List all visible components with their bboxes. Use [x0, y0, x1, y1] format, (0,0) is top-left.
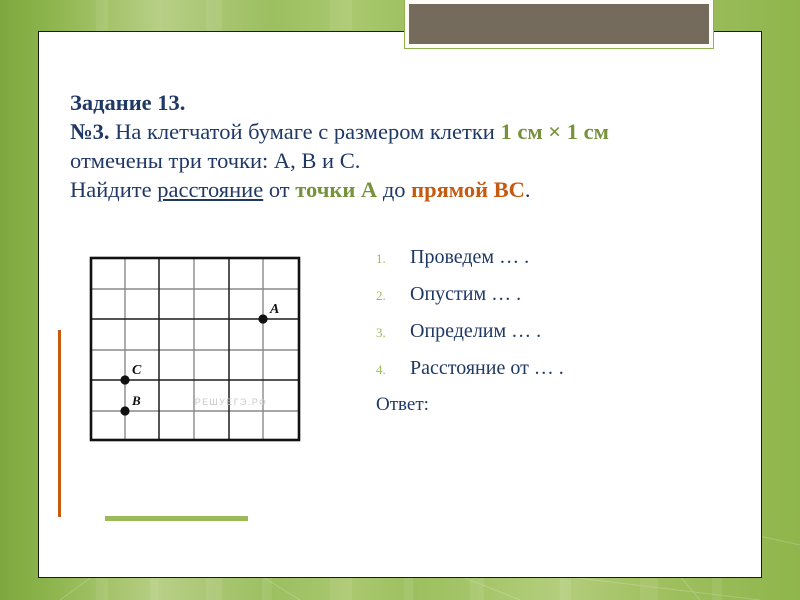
- list-item-number: 1.: [376, 251, 410, 267]
- point-c-marker: [120, 375, 129, 384]
- list-item-label: Опустим … .: [410, 282, 696, 306]
- line-bc-highlight: прямой ВС: [411, 177, 525, 202]
- list-item[interactable]: 4. Расстояние от … .: [376, 356, 696, 380]
- grid-figure: РЕШУЕГЭ.РФ A C B: [88, 255, 302, 443]
- statement-line-2: №3. На клетчатой бумаге с размером клетк…: [70, 117, 730, 146]
- list-item[interactable]: 1. Проведем … .: [376, 245, 696, 269]
- problem-number: №3.: [70, 119, 110, 144]
- point-a-highlight: точки А: [295, 177, 377, 202]
- list-item[interactable]: 3. Определим … .: [376, 319, 696, 343]
- statement-line-2-body: На клетчатой бумаге с размером клетки: [110, 119, 501, 144]
- point-c-label: C: [132, 363, 142, 378]
- list-item[interactable]: 2. Опустим … .: [376, 282, 696, 306]
- list-item-number: 3.: [376, 325, 410, 341]
- solution-steps: 1. Проведем … . 2. Опустим … . 3. Опреде…: [376, 245, 696, 417]
- list-item-label: Определим … .: [410, 319, 696, 343]
- statement-line-4: Найдите расстояние от точки А до прямой …: [70, 175, 730, 204]
- line4-part4: .: [525, 177, 531, 202]
- problem-statement: Задание 13. №3. На клетчатой бумаге с ра…: [70, 88, 730, 204]
- orange-accent-bar: [58, 330, 61, 517]
- point-b-marker: [120, 406, 129, 415]
- point-a-label: A: [269, 302, 279, 317]
- task-title-text: Задание 13.: [70, 90, 185, 115]
- answer-label: Ответ:: [376, 393, 696, 417]
- cell-size-highlight: 1 см × 1 см: [500, 119, 608, 144]
- list-item-number: 4.: [376, 362, 410, 378]
- task-title: Задание 13.: [70, 88, 730, 117]
- line4-part3: до: [377, 177, 411, 202]
- point-a-marker: [258, 314, 267, 323]
- statement-line-3: отмечены три точки: А, В и С.: [70, 146, 730, 175]
- list-item-label: Проведем … .: [410, 245, 696, 269]
- point-b-label: B: [131, 393, 141, 408]
- list-item-number: 2.: [376, 288, 410, 304]
- list-item-label: Расстояние от … .: [410, 356, 696, 380]
- line4-part1: Найдите: [70, 177, 157, 202]
- distance-underlined: расстояние: [157, 177, 263, 202]
- green-accent-bar: [105, 516, 248, 521]
- slide-canvas: Задание 13. №3. На клетчатой бумаге с ра…: [0, 0, 800, 600]
- picture-placeholder: [405, 0, 713, 48]
- figure-watermark: РЕШУЕГЭ.РФ: [195, 397, 268, 407]
- line4-part2: от: [263, 177, 295, 202]
